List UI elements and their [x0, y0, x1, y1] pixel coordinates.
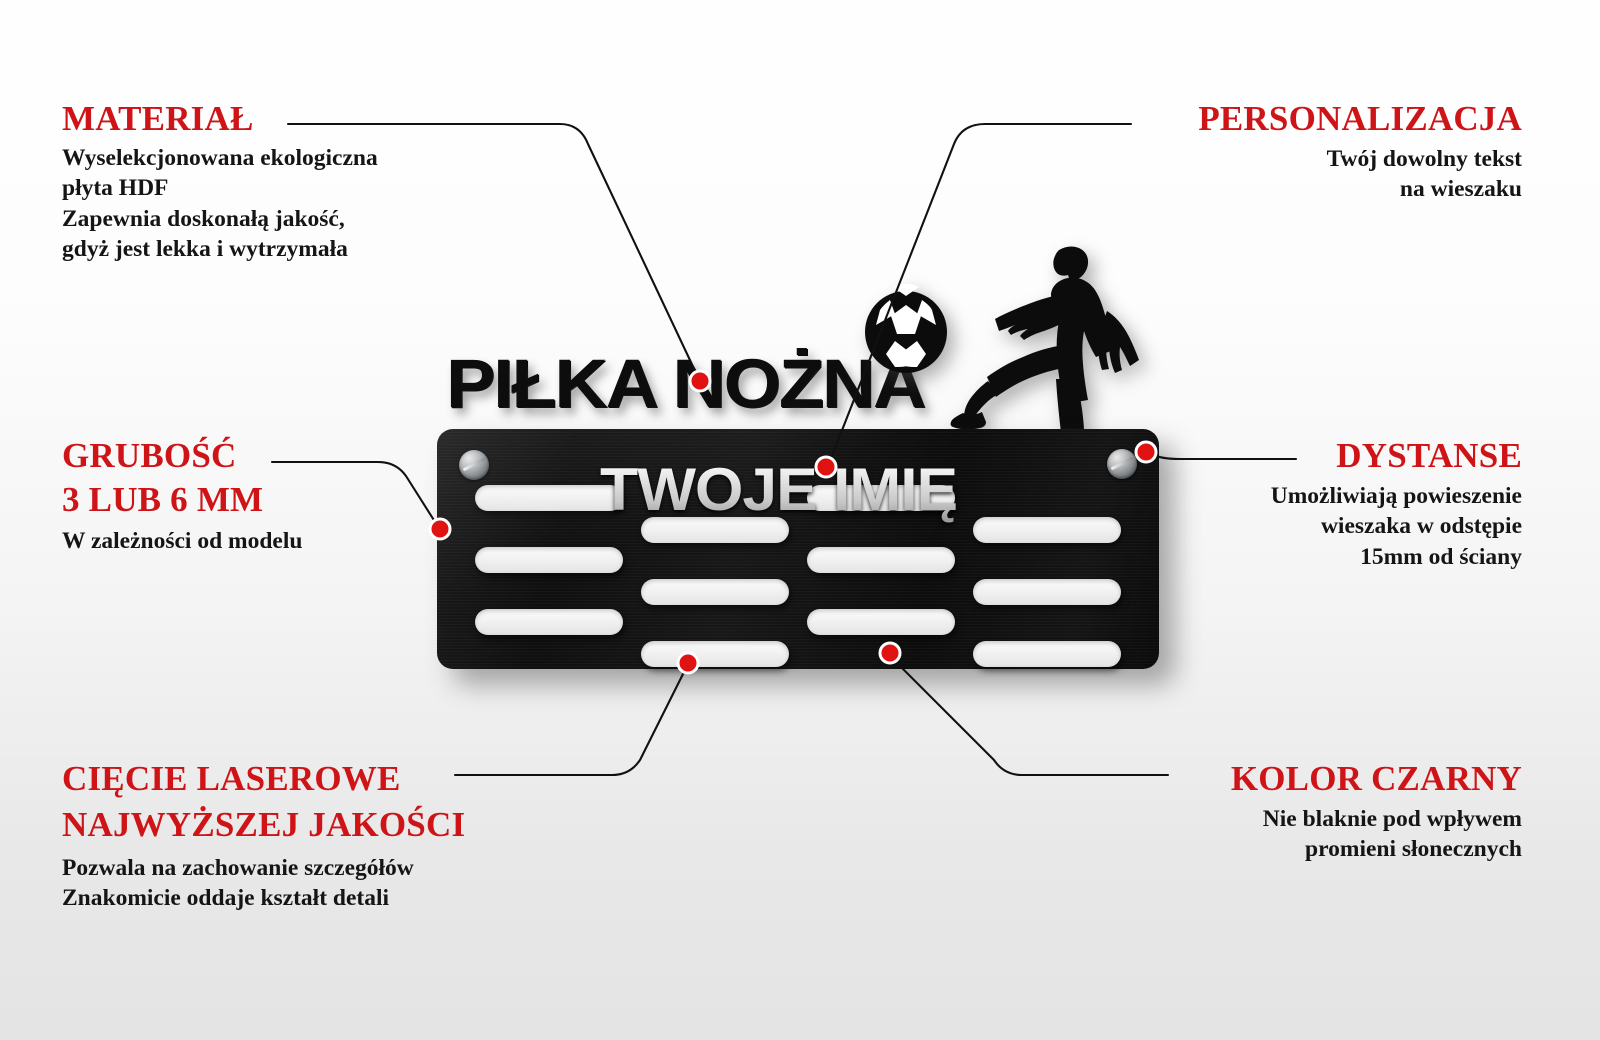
medal-slot — [641, 579, 789, 605]
callout-ciecie-laserowe: CIĘCIE LASEROWE NAJWYŻSZEJ JAKOŚCI Pozwa… — [62, 760, 465, 914]
callout-grubosc-heading: GRUBOŚĆ 3 LUB 6 MM — [62, 437, 302, 519]
medal-slot — [807, 547, 955, 573]
callout-dystanse: DYSTANSE Umożliwiają powieszenie wieszak… — [1271, 437, 1522, 572]
callout-kolor-czarny: KOLOR CZARNY Nie blaknie pod wpływem pro… — [1231, 760, 1522, 865]
callout-personalizacja-body: Twój dowolny tekst na wieszaku — [1198, 144, 1522, 205]
callout-material-body: Wyselekcjonowana ekologiczna płyta HDF Z… — [62, 143, 378, 265]
callout-personalizacja-heading: PERSONALIZACJA — [1198, 100, 1522, 138]
footballer-kicking-silhouette — [862, 233, 1162, 448]
product-title-personalised-text: TWOJE IMIĘ — [600, 445, 1047, 535]
product-title-personalised: TWOJE IMIĘ — [600, 445, 1030, 535]
callout-ciecie-laserowe-heading: CIĘCIE LASEROWE NAJWYŻSZEJ JAKOŚCI — [62, 760, 465, 844]
medal-slot — [973, 579, 1121, 605]
medal-slot — [475, 609, 623, 635]
medal-slot — [475, 547, 623, 573]
callout-kolor-czarny-body: Nie blaknie pod wpływem promieni słonecz… — [1231, 804, 1522, 865]
medal-slot — [641, 641, 789, 667]
callout-grubosc: GRUBOŚĆ 3 LUB 6 MM W zależności od model… — [62, 437, 302, 556]
callout-grubosc-body: W zależności od modelu — [62, 526, 302, 557]
callout-dystanse-heading: DYSTANSE — [1271, 437, 1522, 475]
medal-slot — [807, 609, 955, 635]
callout-material: MATERIAŁ Wyselekcjonowana ekologiczna pł… — [62, 100, 378, 265]
callout-dystanse-body: Umożliwiają powieszenie wieszaka w odstę… — [1271, 481, 1522, 573]
medal-slot — [973, 641, 1121, 667]
infographic-stage: PIŁKA NOŻNA — [0, 0, 1600, 1040]
callout-ciecie-laserowe-body: Pozwala na zachowanie szczegółów Znakomi… — [62, 853, 465, 914]
callout-kolor-czarny-heading: KOLOR CZARNY — [1231, 760, 1522, 798]
callout-material-heading: MATERIAŁ — [62, 100, 378, 138]
callout-personalizacja: PERSONALIZACJA Twój dowolny tekst na wie… — [1198, 100, 1522, 205]
